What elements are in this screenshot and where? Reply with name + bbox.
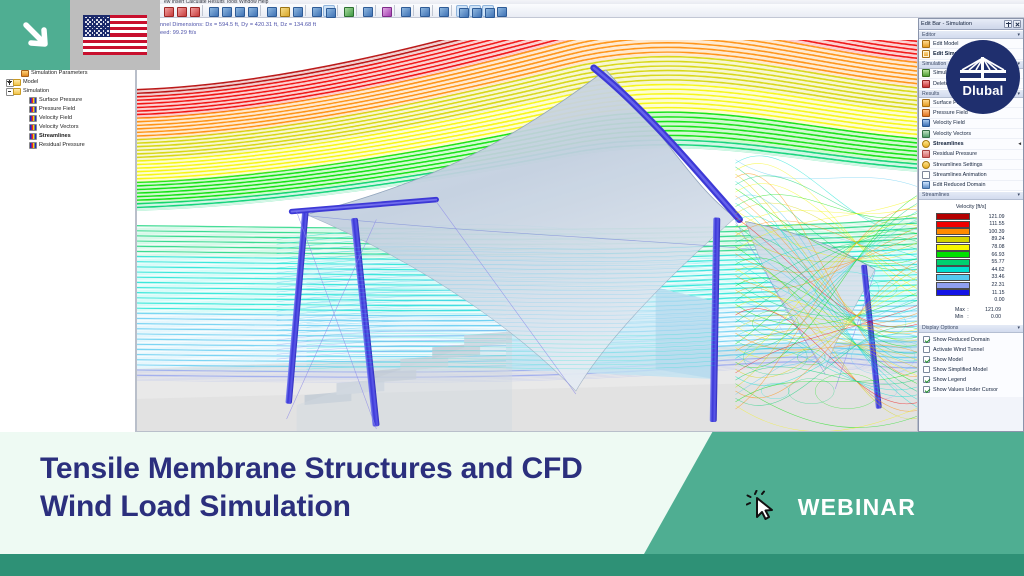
legend-row: 44.62 xyxy=(936,266,1007,274)
toolbar-separator xyxy=(202,5,205,16)
edit-bar-list: Streamlines SettingsStreamlines Animatio… xyxy=(919,160,1023,191)
tree-item-simulation[interactable]: Simulation xyxy=(2,87,135,96)
tree-item-simulation-parameters[interactable]: Simulation Parameters xyxy=(2,69,135,78)
toolbar-icon-zoom-fit[interactable] xyxy=(291,5,303,17)
status-wind-tunnel-dimensions: nnel Dimensions: Dx = 594.5 ft, Dy = 420… xyxy=(160,22,316,28)
toolbar-icon-view-4[interactable] xyxy=(246,5,258,17)
delete-results-icon xyxy=(922,80,930,88)
result-icon xyxy=(29,97,37,104)
legend-swatch xyxy=(936,213,970,220)
streamlines-icon xyxy=(922,140,930,148)
checkbox-icon[interactable] xyxy=(923,356,930,363)
tree-item-label: Residual Pressure xyxy=(39,141,85,150)
tree-item-velocity-field[interactable]: Velocity Field xyxy=(2,114,135,123)
velocity-legend: Velocity [ft/s]121.09111.55100.3989.2478… xyxy=(919,200,1023,324)
toolbar-separator xyxy=(451,5,454,16)
result-icon xyxy=(29,106,37,113)
legend-row: 89.24 xyxy=(936,236,1007,244)
edit-bar-item-streamlines[interactable]: Streamlines◂ xyxy=(919,139,1023,149)
chevron-down-icon[interactable]: ▾ xyxy=(1017,91,1020,97)
legend-swatch xyxy=(936,236,970,243)
legend-value: 100.39 xyxy=(973,229,1007,235)
edit-bar-item-label: Streamlines xyxy=(933,141,964,147)
toolbar-icon-display-mode[interactable] xyxy=(342,5,354,17)
toolbar-icon-render-2[interactable] xyxy=(175,5,187,17)
simulation-parameters-icon xyxy=(21,70,29,77)
legend-row: 55.77 xyxy=(936,258,1007,266)
legend-row: 66.93 xyxy=(936,251,1007,259)
display-option-label: Show Simplified Model xyxy=(933,367,988,373)
toolbar-icon-view-2[interactable] xyxy=(220,5,232,17)
chevron-down-icon[interactable]: ▾ xyxy=(1017,325,1020,331)
toolbar-separator xyxy=(260,5,263,16)
edit-bar-title-bar: Edit Bar - Simulation xyxy=(919,19,1023,30)
legend-value: 11.15 xyxy=(973,290,1007,296)
legend-value: 66.93 xyxy=(973,252,1007,258)
pressure-field-icon xyxy=(922,109,930,117)
legend-value: 44.62 xyxy=(973,267,1007,273)
section-label: Display Options xyxy=(922,325,1017,331)
legend-row: 0.00 xyxy=(936,296,1007,304)
edit-bar-section-streamlines[interactable]: Streamlines▾ xyxy=(919,191,1023,200)
legend-row: 78.08 xyxy=(936,243,1007,251)
dlubal-wordmark: Dlubal xyxy=(963,83,1004,98)
toolbar-icon-rotate[interactable] xyxy=(310,5,322,17)
edit-bar-item-label: Velocity Vectors xyxy=(933,131,971,137)
tree-spacer xyxy=(14,70,21,77)
legend-swatch xyxy=(936,221,970,228)
edit-bar-item-residual-pressure[interactable]: Residual Pressure xyxy=(919,150,1023,160)
tree-item-label: Streamlines xyxy=(39,132,71,141)
legend-value: 0.00 xyxy=(973,297,1007,303)
tree-item-model[interactable]: Model xyxy=(2,78,135,87)
banner-title-line-1: Tensile Membrane Structures and CFD xyxy=(40,450,690,488)
edit-bar-item-label: Edit Reduced Domain xyxy=(933,182,985,188)
residual-pressure-icon xyxy=(922,150,930,158)
legend-value: 121.09 xyxy=(973,214,1007,220)
usa-flag-badge xyxy=(70,0,160,70)
toolbar-icon-view-3[interactable] xyxy=(233,5,245,17)
checkbox-icon[interactable] xyxy=(923,346,930,353)
legend-value: 89.24 xyxy=(973,236,1007,242)
display-option-label: Show Model xyxy=(933,357,963,363)
tree-item-label: Velocity Vectors xyxy=(39,123,79,132)
webinar-banner: Tensile Membrane Structures and CFD Wind… xyxy=(0,432,1024,576)
section-label: Editor xyxy=(922,32,1017,38)
display-option-show-values-under-cursor[interactable]: Show Values Under Cursor xyxy=(919,385,1023,395)
toolbar-separator xyxy=(356,5,359,16)
tree-item-label: Surface Pressure xyxy=(39,96,82,105)
display-option-label: Show Reduced Domain xyxy=(933,337,990,343)
banner-title: Tensile Membrane Structures and CFD Wind… xyxy=(40,450,690,527)
tree-spacer xyxy=(22,115,29,122)
legend-min-max: Max:121.09Min:0.00 xyxy=(919,307,1023,321)
edit-simulation-icon xyxy=(922,50,930,58)
edit-bar-item-streamlines-animation[interactable]: Streamlines Animation xyxy=(919,170,1023,180)
tree-item-surface-pressure[interactable]: Surface Pressure xyxy=(2,96,135,105)
edit-bar-item-edit-reduced-domain[interactable]: Edit Reduced Domain xyxy=(919,181,1023,191)
arrow-down-right-badge xyxy=(0,0,70,70)
result-icon xyxy=(29,115,37,122)
legend-number: 121.09 xyxy=(971,307,1001,313)
chevron-down-icon[interactable]: ▾ xyxy=(1017,32,1020,38)
toolbar-icon-render-3[interactable] xyxy=(188,5,200,17)
tree-item-label: Model xyxy=(23,78,38,87)
tree-item-label: Velocity Field xyxy=(39,114,72,123)
checkbox-icon[interactable] xyxy=(923,386,930,393)
collapse-toggle-icon[interactable] xyxy=(6,88,13,95)
cursor-click-icon xyxy=(746,490,780,524)
velocity-field-icon xyxy=(922,119,930,127)
toolbar-icon-zoom-out[interactable] xyxy=(278,5,290,17)
legend-swatch xyxy=(936,228,970,235)
legend-number: 0.00 xyxy=(971,314,1001,320)
legend-swatch xyxy=(936,266,970,273)
tree-spacer xyxy=(22,97,29,104)
toolbar-icon-lighting[interactable] xyxy=(399,5,411,17)
3d-viewport[interactable] xyxy=(136,40,918,432)
checkbox-icon[interactable] xyxy=(923,376,930,383)
toolbar-icon-panel-1[interactable] xyxy=(456,5,468,17)
tree-item-pressure-field[interactable]: Pressure Field xyxy=(2,105,135,114)
banner-title-line-2: Wind Load Simulation xyxy=(40,488,690,526)
edit-bar-item-label: Pressure Field xyxy=(933,110,968,116)
tree-item-label: Simulation Parameters xyxy=(31,69,88,78)
display-option-activate-wind-tunnel[interactable]: Activate Wind Tunnel xyxy=(919,345,1023,355)
toolbar-icon-view-1[interactable] xyxy=(207,5,219,17)
tree-spacer xyxy=(22,106,29,113)
legend-value: 33.46 xyxy=(973,274,1007,280)
pin-icon[interactable] xyxy=(1004,20,1012,28)
toolbar-separator xyxy=(305,5,308,16)
edit-reduced-domain-icon xyxy=(922,181,930,189)
legend-value: 111.55 xyxy=(973,221,1007,227)
banner-bottom-strip xyxy=(0,554,1024,576)
display-option-show-simplified-model[interactable]: Show Simplified Model xyxy=(919,365,1023,375)
tree-item-label: Simulation xyxy=(23,87,49,96)
tree-spacer xyxy=(22,124,29,131)
legend-row: 11.15 xyxy=(936,289,1007,297)
legend-key: Max xyxy=(941,307,965,313)
submenu-arrow-icon[interactable]: ◂ xyxy=(1018,141,1021,147)
toolbar-icon-pan[interactable] xyxy=(323,5,335,17)
result-icon xyxy=(29,142,37,149)
toolbar-icon-axes[interactable] xyxy=(418,5,430,17)
toolbar-icon-section[interactable] xyxy=(380,5,392,17)
edit-bar-item-label: Residual Pressure xyxy=(933,151,977,157)
legend-row: 22.31 xyxy=(936,281,1007,289)
edit-bar-item-streamlines-settings[interactable]: Streamlines Settings xyxy=(919,160,1023,170)
result-icon xyxy=(29,133,37,140)
display-option-show-reduced-domain[interactable]: Show Reduced Domain xyxy=(919,335,1023,345)
simulate-icon xyxy=(922,69,930,77)
edit-bar-item-label: Edit Model xyxy=(933,41,958,47)
legend-max: Max:121.09 xyxy=(919,307,1023,314)
toolbar-separator xyxy=(375,5,378,16)
edit-bar-section-editor[interactable]: Editor▾ xyxy=(919,30,1023,39)
toolbar-icon-panel-4[interactable] xyxy=(495,5,507,17)
velocity-vectors-icon xyxy=(922,130,930,138)
edit-bar-item-velocity-vectors[interactable]: Velocity Vectors xyxy=(919,129,1023,139)
toolbar-icon-panel-3[interactable] xyxy=(482,5,494,17)
toolbar-separator xyxy=(394,5,397,16)
toolbar-separator xyxy=(432,5,435,16)
streamlines-animation-icon xyxy=(922,171,930,179)
folder-icon xyxy=(13,79,21,86)
edit-bar-item-label: Streamlines Settings xyxy=(933,162,982,168)
toolbar-icon-panel-2[interactable] xyxy=(469,5,481,17)
toolbar-separator xyxy=(413,5,416,16)
tree-item-residual-pressure[interactable]: Residual Pressure xyxy=(2,141,135,150)
toolbar-icon-zoom-in[interactable] xyxy=(265,5,277,17)
legend-value: 55.77 xyxy=(973,259,1007,265)
legend-value: 78.08 xyxy=(973,244,1007,250)
dlubal-truss-icon xyxy=(960,57,1006,81)
toolbar-icon-render-1[interactable] xyxy=(162,5,174,17)
checkbox-icon[interactable] xyxy=(923,366,930,373)
edit-bar-item-label: Velocity Field xyxy=(933,120,965,126)
legend-key: Min xyxy=(941,314,965,320)
toolbar-icon-results[interactable] xyxy=(437,5,449,17)
legend-title: Velocity [ft/s] xyxy=(919,204,1023,210)
webinar-badge: WEBINAR xyxy=(746,490,916,524)
legend-row: 33.46 xyxy=(936,274,1007,282)
model-tree[interactable]: Wind TunnelSimulation ParametersModelSim… xyxy=(0,60,135,150)
tree-item-label: Pressure Field xyxy=(39,105,75,114)
display-option-show-model[interactable]: Show Model xyxy=(919,355,1023,365)
legend-rows: 121.09111.55100.3989.2478.0866.9355.7744… xyxy=(919,213,1023,304)
display-options-list: Show Reduced DomainActivate Wind TunnelS… xyxy=(919,333,1023,397)
close-icon[interactable] xyxy=(1013,20,1021,28)
tree-spacer xyxy=(22,142,29,149)
tree-item-velocity-vectors[interactable]: Velocity Vectors xyxy=(2,123,135,132)
tree-spacer xyxy=(22,133,29,140)
legend-swatch xyxy=(936,289,970,296)
legend-row: 121.09 xyxy=(936,213,1007,221)
tree-item-streamlines[interactable]: Streamlines xyxy=(2,132,135,141)
expand-toggle-icon[interactable] xyxy=(6,79,13,86)
folder-icon xyxy=(13,88,21,95)
legend-swatch xyxy=(936,251,970,258)
display-option-show-legend[interactable]: Show Legend xyxy=(919,375,1023,385)
display-option-label: Show Values Under Cursor xyxy=(933,387,998,393)
result-icon xyxy=(29,124,37,131)
cad-application: ew Insert Calculate Results Tools Window… xyxy=(0,0,1024,432)
main-toolbar[interactable] xyxy=(160,4,1024,18)
legend-swatch xyxy=(936,282,970,289)
legend-swatch xyxy=(936,244,970,251)
display-option-label: Show Legend xyxy=(933,377,966,383)
cfd-streamline-visualization xyxy=(137,40,917,431)
dlubal-logo: Dlubal xyxy=(946,40,1020,114)
edit-bar-item-velocity-field[interactable]: Velocity Field xyxy=(919,119,1023,129)
display-option-label: Activate Wind Tunnel xyxy=(933,347,984,353)
section-label: Streamlines xyxy=(922,192,1017,198)
arrow-down-right-icon xyxy=(16,16,54,54)
edit-model-icon xyxy=(922,40,930,48)
edit-bar-title: Edit Bar - Simulation xyxy=(921,21,1003,27)
legend-min: Min:0.00 xyxy=(919,314,1023,321)
legend-row: 111.55 xyxy=(936,220,1007,228)
surface-pressure-icon xyxy=(922,99,930,107)
legend-value: 22.31 xyxy=(973,282,1007,288)
legend-row: 100.39 xyxy=(936,228,1007,236)
webinar-label: WEBINAR xyxy=(798,494,916,521)
chevron-down-icon[interactable]: ▾ xyxy=(1017,192,1020,198)
legend-swatch xyxy=(936,259,970,266)
checkbox-icon[interactable] xyxy=(923,336,930,343)
edit-bar-item-label: Streamlines Animation xyxy=(933,172,987,178)
streamlines-settings-icon xyxy=(922,161,930,169)
edit-bar-section-display-options[interactable]: Display Options▾ xyxy=(919,324,1023,333)
usa-flag-icon xyxy=(83,15,147,55)
toolbar-icon-solid[interactable] xyxy=(361,5,373,17)
toolbar-separator xyxy=(337,5,340,16)
legend-swatch xyxy=(936,274,970,281)
status-wind-speed: eed: 99.29 ft/s xyxy=(160,30,196,36)
